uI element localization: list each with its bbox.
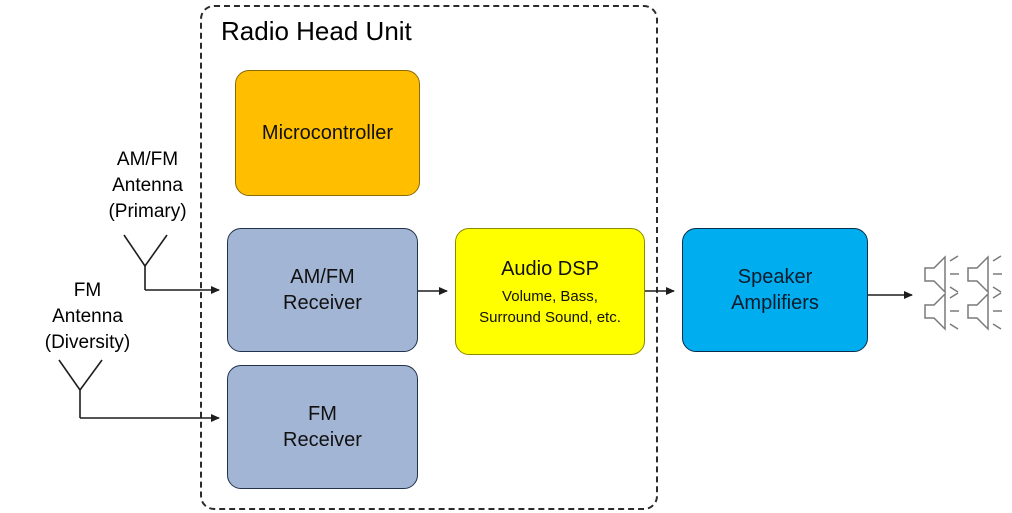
diversity-antenna-icon [59, 360, 102, 418]
fm-receiver-label-line1: FM [308, 401, 337, 427]
diversity-antenna-label-line2: Antenna [0, 304, 175, 330]
radio-head-unit-label: Radio Head Unit [221, 15, 412, 47]
speaker-amplifiers-label-line1: Speaker [738, 264, 813, 290]
speaker-icon-bottom-left [925, 293, 959, 329]
audio-dsp-title: Audio DSP [501, 256, 599, 282]
primary-antenna-label-line1: AM/FM [60, 147, 235, 173]
speaker-icon-top-right [968, 256, 1002, 292]
block-speaker-amplifiers: Speaker Amplifiers [682, 228, 868, 352]
fm-receiver-label-line2: Receiver [283, 427, 362, 453]
block-fm-receiver: FM Receiver [227, 365, 418, 489]
block-diagram-canvas: Radio Head Unit Microcontroller AM/FM Re… [0, 0, 1012, 513]
amfm-receiver-label-line1: AM/FM [290, 264, 354, 290]
diversity-antenna-label-line3: (Diversity) [0, 330, 175, 356]
speaker-icon-bottom-right [968, 293, 1002, 329]
primary-antenna-label: AM/FM Antenna (Primary) [60, 147, 235, 225]
block-audio-dsp: Audio DSP Volume, Bass, Surround Sound, … [455, 228, 645, 355]
audio-dsp-sub-line2: Surround Sound, etc. [479, 307, 621, 328]
audio-dsp-sub-line1: Volume, Bass, [502, 286, 598, 307]
diversity-antenna-label-line1: FM [0, 278, 175, 304]
speaker-amplifiers-label-line2: Amplifiers [731, 290, 819, 316]
microcontroller-label: Microcontroller [262, 121, 393, 146]
speaker-icon-top-left [925, 256, 959, 292]
amfm-receiver-label-line2: Receiver [283, 290, 362, 316]
diversity-antenna-label: FM Antenna (Diversity) [0, 278, 175, 356]
primary-antenna-label-line2: Antenna [60, 173, 235, 199]
block-amfm-receiver: AM/FM Receiver [227, 228, 418, 352]
primary-antenna-label-line3: (Primary) [60, 199, 235, 225]
block-microcontroller: Microcontroller [235, 70, 420, 196]
